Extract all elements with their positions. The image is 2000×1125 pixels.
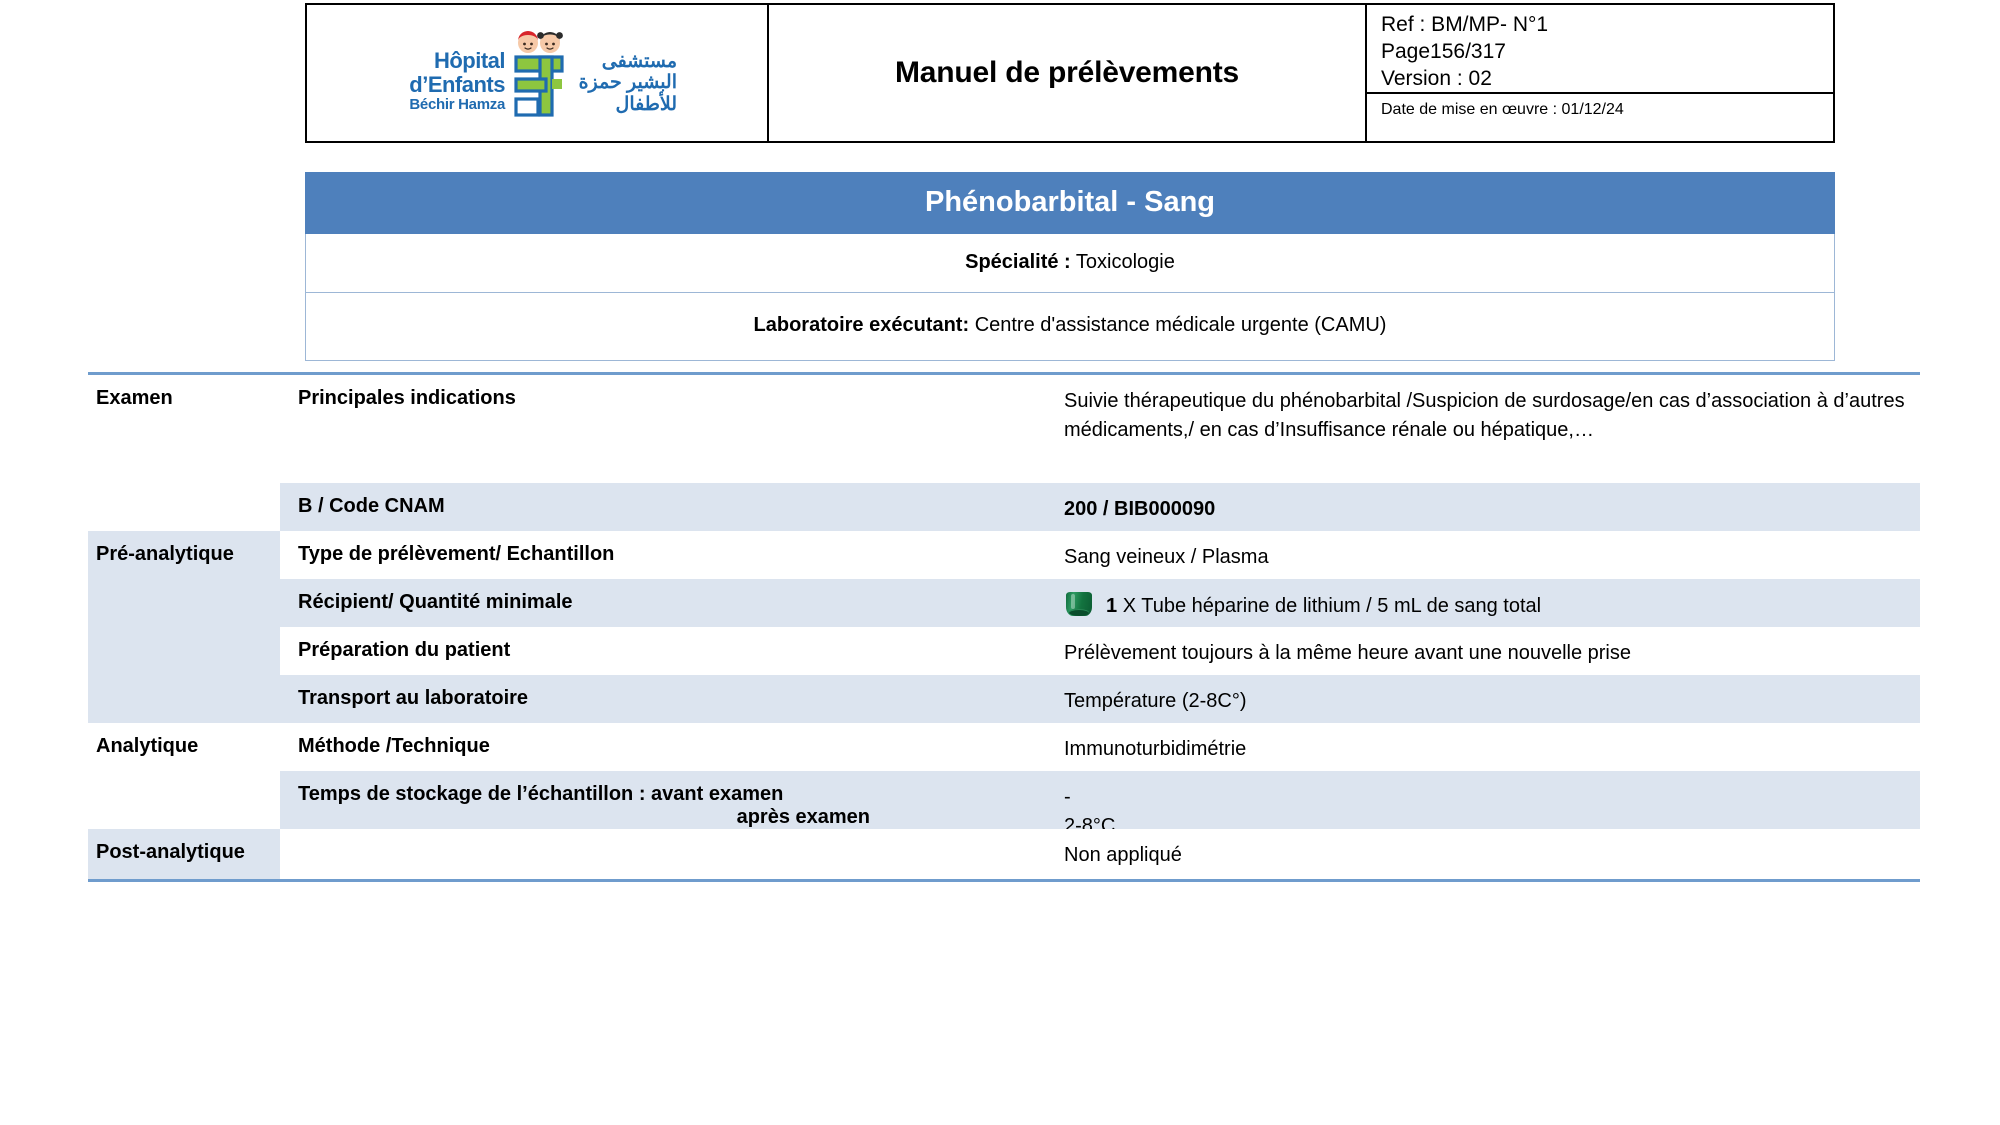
specialty-label: Spécialité : [965,251,1071,273]
header-title-cell: Manuel de prélèvements [769,5,1367,141]
table-row: Examen Principales indications Suivie th… [88,375,1920,483]
row-value: - 2-8°C [1060,771,1920,829]
logo-arabic-line3: للأطفال [573,94,677,115]
row-label: Préparation du patient [280,627,1060,675]
header-meta-block: Ref : BM/MP- N°1 Page156/317 Version : 0… [1367,5,1833,94]
table-row: Transport au laboratoire Température (2-… [88,675,1920,723]
phase-cell-spacer [88,771,280,829]
phase-cell-spacer [88,675,280,723]
table-row: Analytique Méthode /Technique Immunoturb… [88,723,1920,771]
phase-cell-examen: Examen [88,375,280,483]
blood-tube-icon [1064,591,1094,617]
laboratory-row: Laboratoire exécutant: Centre d'assistan… [305,293,1835,361]
row-label: Récipient/ Quantité minimale [280,579,1060,627]
header-meta-cell: Ref : BM/MP- N°1 Page156/317 Version : 0… [1367,5,1833,141]
phase-cell-pre-analytique: Pré-analytique [88,531,280,579]
specialty-value: Toxicologie [1076,251,1175,273]
row-label: Transport au laboratoire [280,675,1060,723]
row-value: Suivie thérapeutique du phénobarbital /S… [1060,375,1920,483]
doc-effective-date: Date de mise en œuvre : 01/12/24 [1381,101,1833,119]
table-row: Post-analytique Non appliqué [88,829,1920,879]
doc-version: Version : 02 [1381,65,1833,92]
phase-cell-analytique: Analytique [88,723,280,771]
table-row: Pré-analytique Type de prélèvement/ Echa… [88,531,1920,579]
exam-details-table: Examen Principales indications Suivie th… [88,372,1920,882]
phase-cell-spacer [88,483,280,531]
tube-description: X Tube héparine de lithium / 5 mL de san… [1123,595,1541,617]
row-value: 1 X Tube héparine de lithium / 5 mL de s… [1060,579,1920,627]
row-value: Température (2-8C°) [1060,675,1920,723]
specialty-row: Spécialité : Toxicologie [305,234,1835,293]
table-row: Récipient/ Quantité minimale 1 X Tube hé… [88,579,1920,627]
row-value: Immunoturbidimétrie [1060,723,1920,771]
row-label: Principales indications [280,375,1060,483]
phase-cell-spacer [88,627,280,675]
row-label: Méthode /Technique [280,723,1060,771]
hospital-logo: Hôpital d’Enfants Béchir Hamza [397,27,677,119]
row-label: B / Code CNAM [280,483,1060,531]
document-title: Manuel de prélèvements [895,56,1239,90]
row-value: 200 / BIB000090 [1060,483,1920,531]
row-value: Prélèvement toujours à la même heure ava… [1060,627,1920,675]
logo-arabic-line2: البشير حمزة [573,72,677,93]
exam-card: Phénobarbital - Sang Spécialité : Toxico… [305,172,1835,361]
phase-cell-spacer [88,579,280,627]
phase-cell-post-analytique: Post-analytique [88,829,280,879]
laboratory-label: Laboratoire exécutant: [754,314,970,336]
laboratory-value: Centre d'assistance médicale urgente (CA… [975,314,1387,336]
header-date-block: Date de mise en œuvre : 01/12/24 [1367,94,1833,141]
row-label: Temps de stockage de l’échantillon : ava… [280,771,1060,829]
logo-french-line3: Béchir Hamza [397,97,505,113]
document-header: Hôpital d’Enfants Béchir Hamza [305,3,1835,143]
logo-mark-icon [510,27,568,119]
logo-french-line2: d’Enfants [397,73,505,97]
logo-french-text: Hôpital d’Enfants Béchir Hamza [397,49,505,113]
row-value: Sang veineux / Plasma [1060,531,1920,579]
row-label [280,829,1060,879]
doc-page: Page156/317 [1381,38,1833,65]
table-row: Préparation du patient Prélèvement toujo… [88,627,1920,675]
header-logo-cell: Hôpital d’Enfants Béchir Hamza [307,5,769,141]
exam-title-banner: Phénobarbital - Sang [305,172,1835,234]
row-value: Non appliqué [1060,829,1920,879]
storage-label-after: après examen [298,806,1042,829]
table-row: Temps de stockage de l’échantillon : ava… [88,771,1920,829]
doc-ref: Ref : BM/MP- N°1 [1381,11,1833,38]
logo-arabic-text: مستشفى البشير حمزة للأطفال [573,51,677,115]
row-label: Type de prélèvement/ Echantillon [280,531,1060,579]
storage-value-before: - [1064,783,1906,812]
logo-arabic-line1: مستشفى [573,51,677,72]
storage-label-before: Temps de stockage de l’échantillon : ava… [298,783,783,805]
logo-french-line1: Hôpital [397,49,505,73]
table-row: B / Code CNAM 200 / BIB000090 [88,483,1920,531]
tube-count: 1 [1106,595,1117,617]
